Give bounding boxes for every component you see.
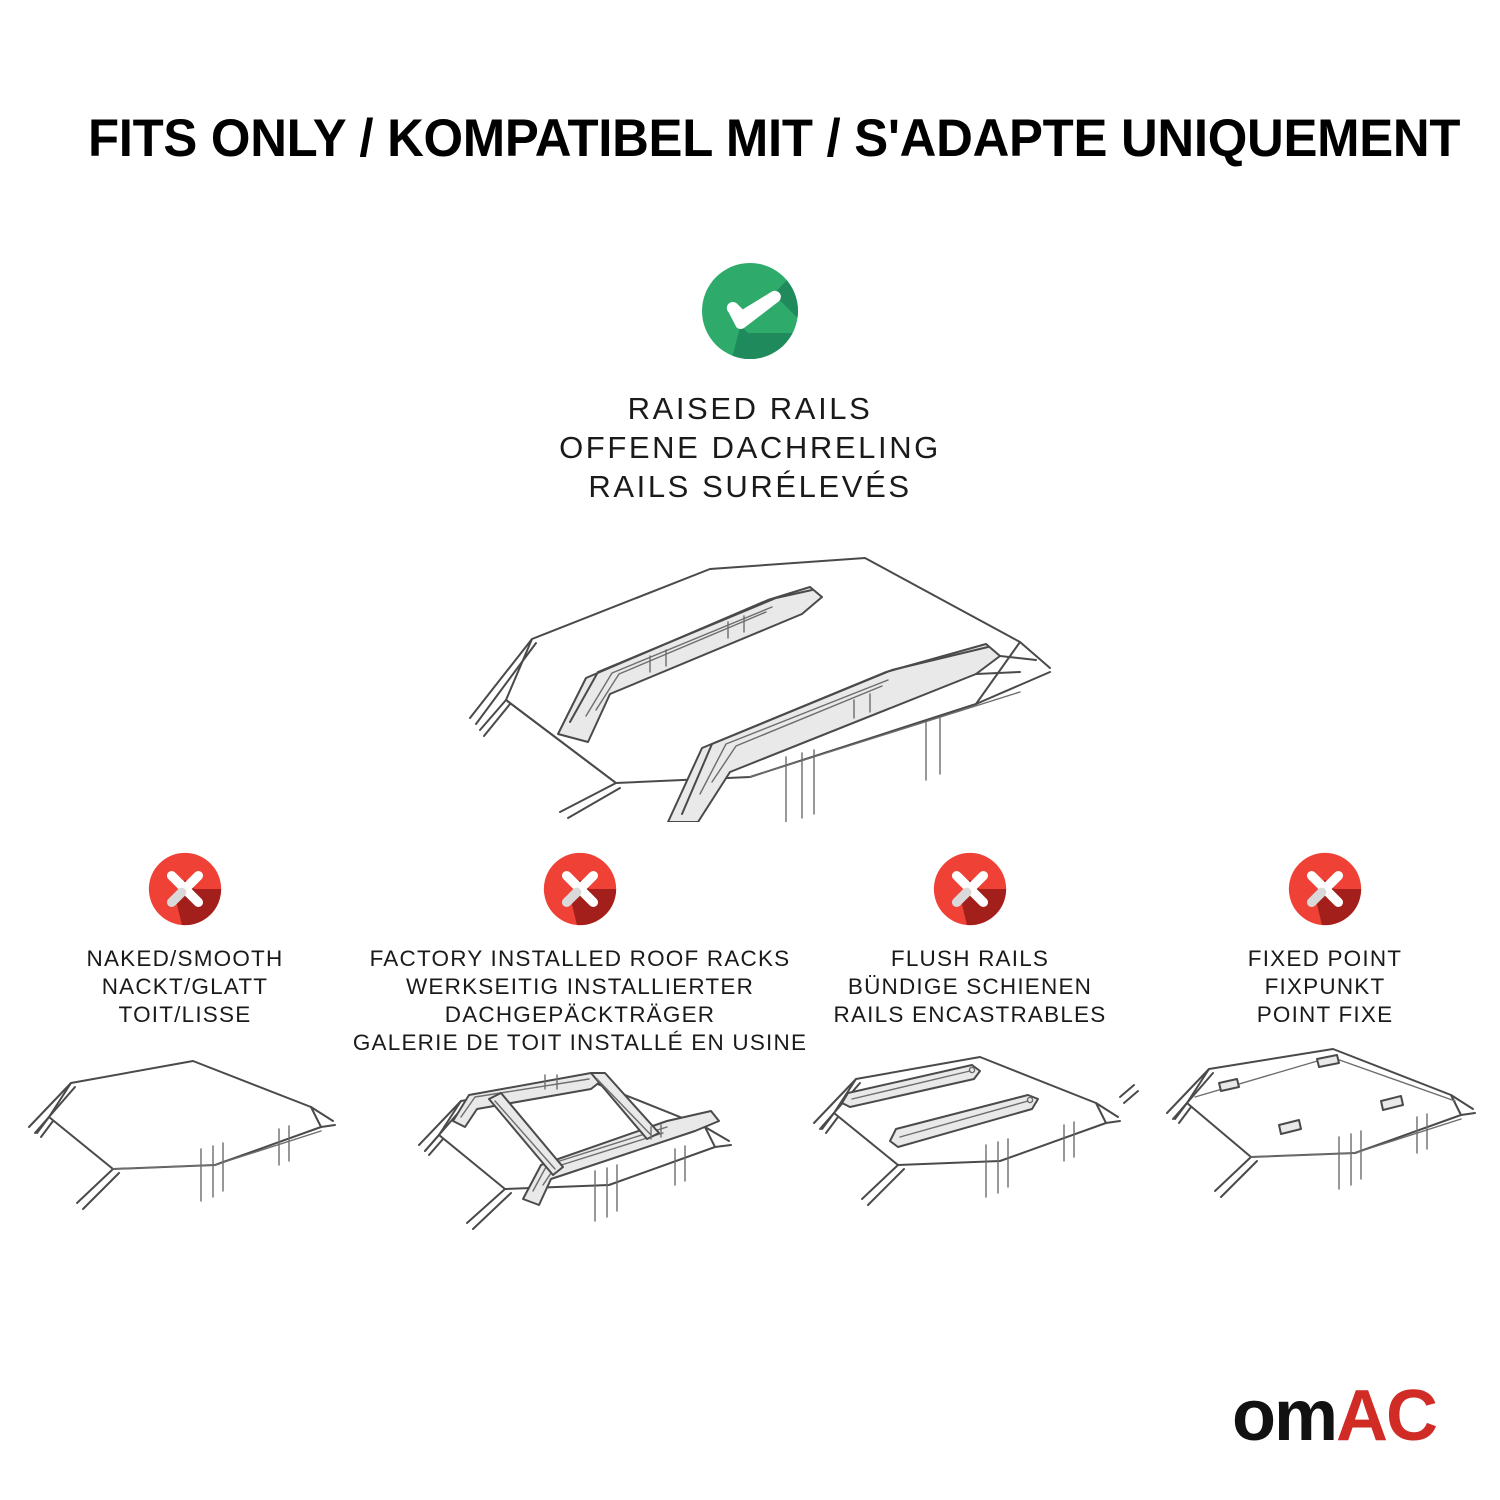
incompatible-caption: FIXED POINT FIXPUNKT POINT FIXE (1248, 945, 1402, 1029)
incompatible-item-fixed-point: FIXED POINT FIXPUNKT POINT FIXE (1150, 845, 1500, 1256)
caption-line: FLUSH RAILS (834, 945, 1107, 973)
cross-circle-icon (536, 845, 624, 933)
caption-line: POINT FIXE (1248, 1001, 1402, 1029)
incompatible-item-naked-smooth: NAKED/SMOOTH NACKT/GLATT TOIT/LISSE (0, 845, 370, 1256)
cross-circle-icon (141, 845, 229, 933)
caption-line: WERKSEITIG INSTALLIERTER (353, 973, 807, 1001)
caption-line: TOIT/LISSE (87, 1001, 284, 1029)
caption-line: NAKED/SMOOTH (87, 945, 284, 973)
caption-line: DACHGEPÄCKTRÄGER (353, 1001, 807, 1029)
omac-logo: om AC (1232, 1380, 1436, 1452)
caption-line: FIXPUNKT (1248, 973, 1402, 1001)
incompatible-section: NAKED/SMOOTH NACKT/GLATT TOIT/LISSE (0, 845, 1500, 1284)
caption-line: RAISED RAILS (559, 389, 941, 428)
caption-line: FIXED POINT (1248, 945, 1402, 973)
caption-line: OFFENE DACHRELING (559, 428, 941, 467)
caption-line: NACKT/GLATT (87, 973, 284, 1001)
car-roof-fixed-point-diagram (1155, 1041, 1495, 1256)
omac-logo-red-text: AC (1336, 1380, 1436, 1452)
caption-line: RAILS SURÉLEVÉS (559, 467, 941, 506)
caption-line: FACTORY INSTALLED ROOF RACKS (353, 945, 807, 973)
caption-line: RAILS ENCASTRABLES (834, 1001, 1107, 1029)
car-roof-factory-roof-rack-diagram (395, 1069, 765, 1284)
incompatible-caption: NAKED/SMOOTH NACKT/GLATT TOIT/LISSE (87, 945, 284, 1029)
incompatible-item-flush-rails: FLUSH RAILS BÜNDIGE SCHIENEN RAILS ENCAS… (790, 845, 1150, 1256)
compatible-section: RAISED RAILS OFFENE DACHRELING RAILS SUR… (0, 255, 1500, 822)
caption-line: BÜNDIGE SCHIENEN (834, 973, 1107, 1001)
car-roof-flush-rails-diagram (800, 1041, 1140, 1256)
check-circle-icon (694, 255, 806, 367)
incompatible-caption: FACTORY INSTALLED ROOF RACKS WERKSEITIG … (353, 945, 807, 1057)
page-title: FITS ONLY / KOMPATIBEL MIT / S'ADAPTE UN… (88, 108, 1365, 170)
incompatible-item-factory-roof-racks: FACTORY INSTALLED ROOF RACKS WERKSEITIG … (370, 845, 790, 1284)
caption-line: GALERIE DE TOIT INSTALLÉ EN USINE (353, 1029, 807, 1057)
car-roof-naked-smooth-diagram (15, 1041, 355, 1256)
cross-circle-icon (926, 845, 1014, 933)
cross-circle-icon (1281, 845, 1369, 933)
omac-logo-black-text: om (1232, 1380, 1336, 1452)
compatible-caption: RAISED RAILS OFFENE DACHRELING RAILS SUR… (559, 389, 941, 506)
car-roof-raised-rails-diagram (410, 522, 1090, 822)
incompatible-caption: FLUSH RAILS BÜNDIGE SCHIENEN RAILS ENCAS… (834, 945, 1107, 1029)
